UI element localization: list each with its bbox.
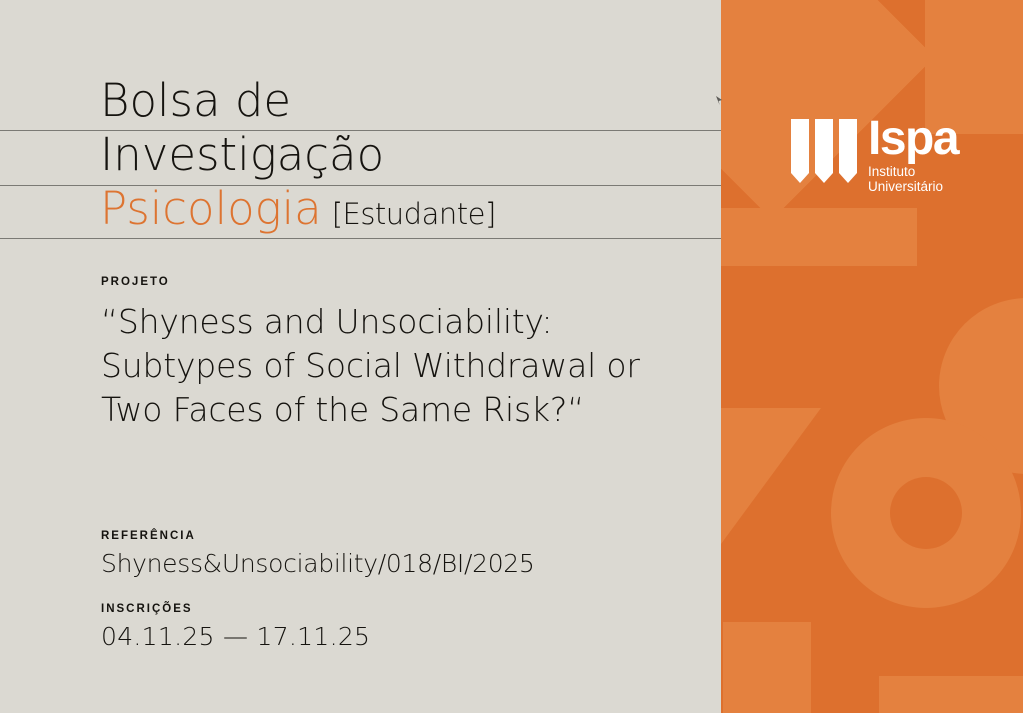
reference-value: Shyness&Unsociability/018/BI/2025 [101,548,701,580]
brand-panel: Ispa Instituto Universitário [721,0,1023,713]
applications-label: INSCRIÇÕES [101,603,701,615]
applications-section: INSCRIÇÕES 04.11.25 — 17.11.25 [101,603,701,653]
ring-shape-hole [890,477,962,549]
applications-period: 04.11.25 — 17.11.25 [101,621,701,653]
square-shape-bottom-left [723,622,811,713]
poster-canvas: Ispa Instituto Universitário Bolsa de In… [0,0,1023,713]
ispa-subtitle: Instituto Universitário [868,164,958,194]
page-title: Bolsa de Investigação Psicologia[Estudan… [100,74,720,241]
project-section: PROJETO “Shyness and Unsociability: Subt… [101,276,701,432]
headline-audience-tag: [Estudante] [332,197,496,231]
ispa-logo-text: Ispa Instituto Universitário [868,118,958,194]
ispa-shield-icon [789,118,859,184]
rectangle-shape-middle-left [721,208,917,266]
reference-label: REFERÊNCIA [101,530,701,542]
triangle-shape [721,408,821,544]
project-title: “Shyness and Unsociability: Subtypes of … [101,300,701,432]
headline-line-1: Bolsa de [100,74,720,128]
square-shape-bottom-center [879,676,971,713]
rectangle-shape-bottom-right [971,676,1023,713]
rectangle-shape-top-right [925,0,1023,58]
headline-discipline: Psicologia [100,182,322,235]
headline-line-3: Psicologia[Estudante] [100,182,720,241]
reference-section: REFERÊNCIA Shyness&Unsociability/018/BI/… [101,530,701,580]
ispa-wordmark: Ispa [868,118,958,159]
ispa-logo: Ispa Instituto Universitário [789,118,958,194]
project-label: PROJETO [101,276,701,288]
headline-line-2: Investigação [100,128,720,182]
